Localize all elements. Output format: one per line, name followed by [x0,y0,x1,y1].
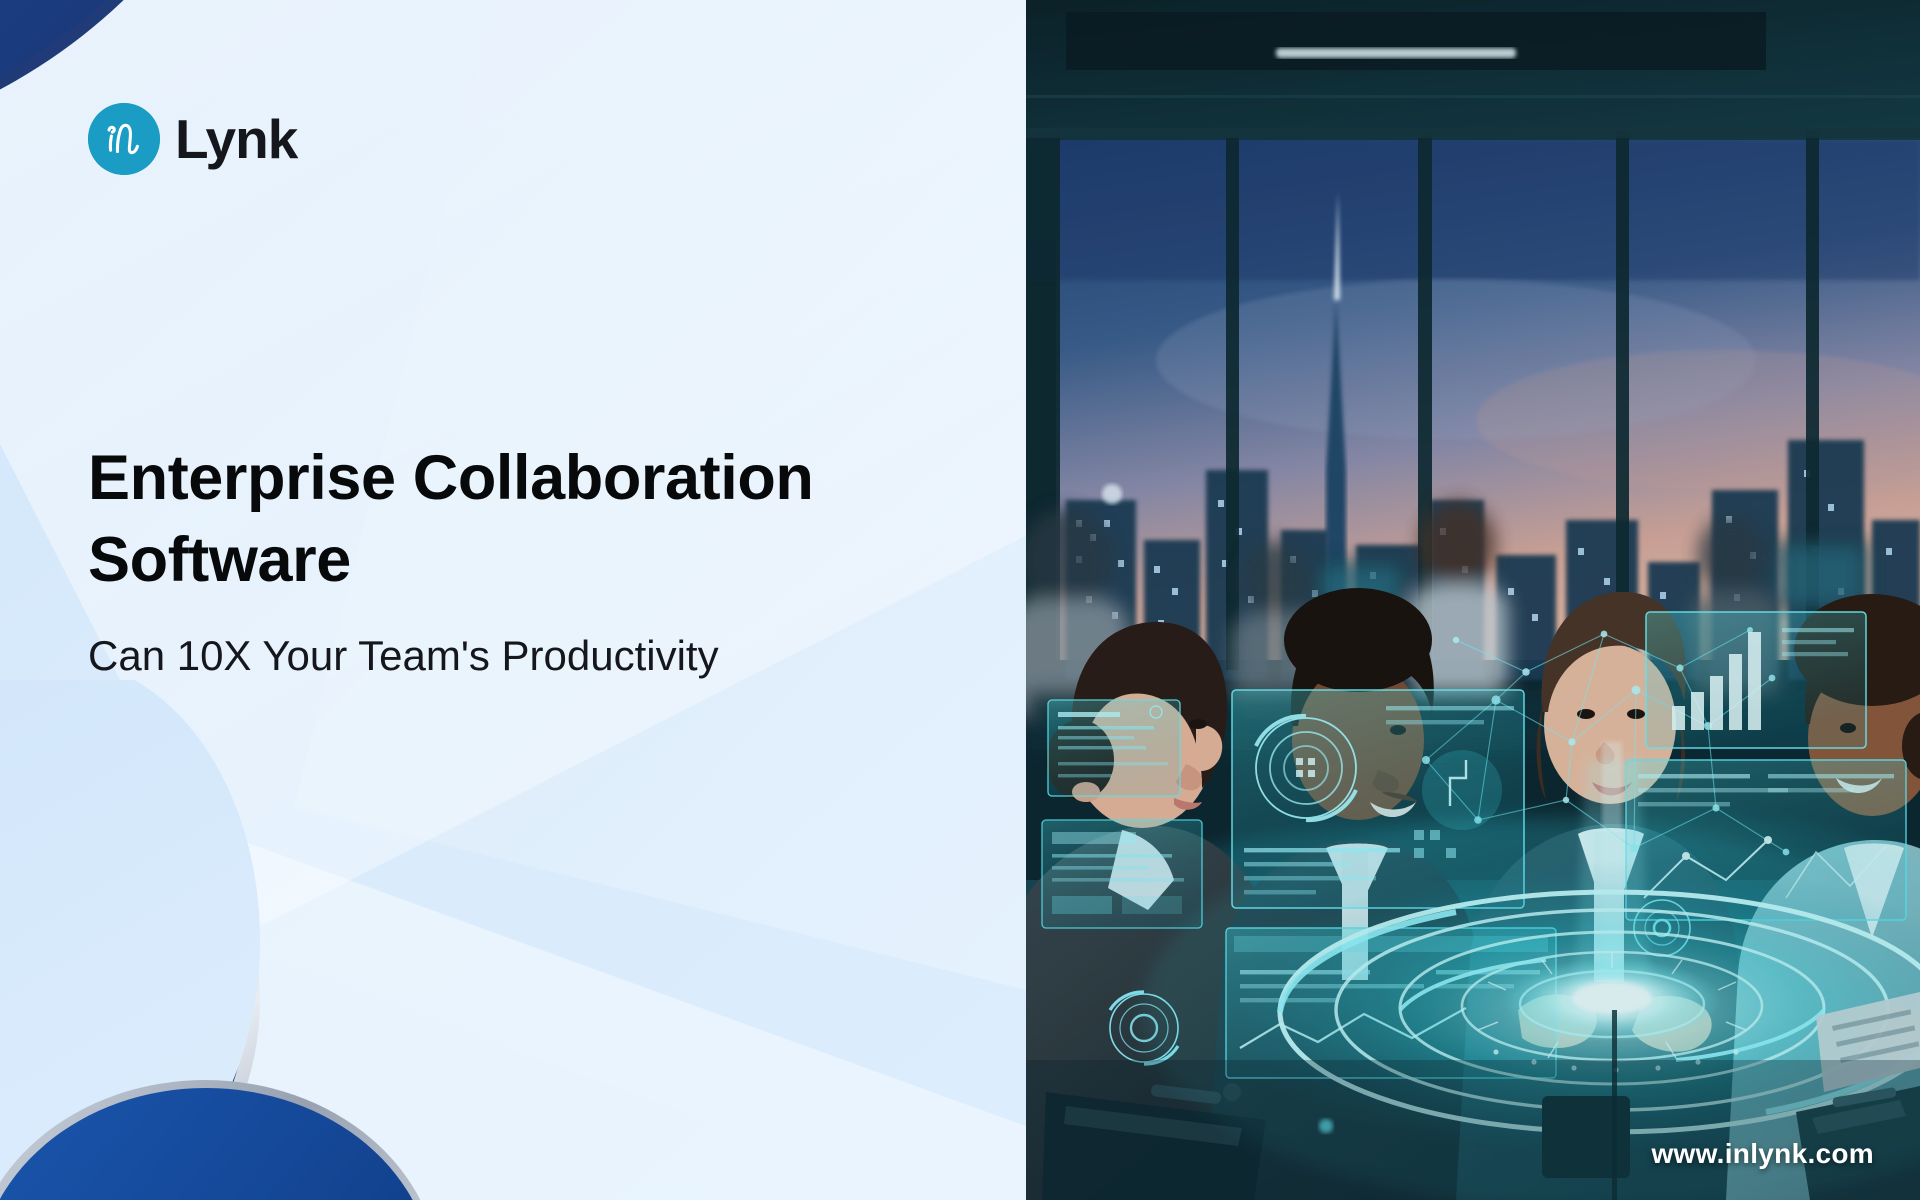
presentation-slide: Lynk Enterprise Collaboration Software C… [0,0,1920,1200]
website-url[interactable]: www.inlynk.com [1651,1138,1874,1170]
headline-block: Enterprise Collaboration Software Can 10… [88,438,968,682]
brand-logo[interactable]: Lynk [88,103,297,175]
right-image-panel: www.inlynk.com [1026,0,1920,1200]
office-team-photo [1026,0,1920,1200]
slide-headline: Enterprise Collaboration Software [88,438,958,602]
logo-circle-in-icon [88,103,160,175]
logo-wordmark: Lynk [175,112,297,167]
left-content-panel: Lynk Enterprise Collaboration Software C… [0,0,1026,1200]
slide-subheadline: Can 10X Your Team's Productivity [88,630,968,683]
bottom-left-decoration [0,680,420,1200]
